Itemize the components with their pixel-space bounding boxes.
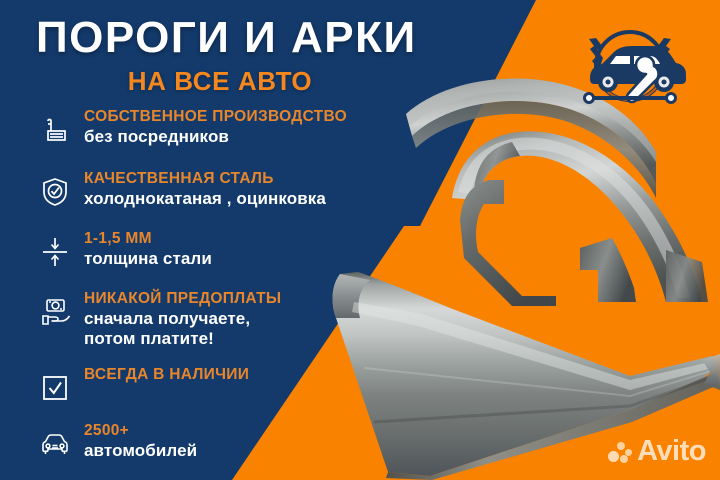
feature-subline: толщина стали <box>84 249 212 269</box>
feature-text: НИКАКОЙ ПРЕДОПЛАТЫ сначала получаете, по… <box>76 290 281 350</box>
feature-item-thickness: 1-1,5 ММ толщина стали <box>34 230 424 272</box>
feature-headline: 1-1,5 ММ <box>84 230 212 249</box>
feature-item-no-prepayment: НИКАКОЙ ПРЕДОПЛАТЫ сначала получаете, по… <box>34 290 424 350</box>
feature-item-in-stock: ВСЕГДА В НАЛИЧИИ <box>34 366 424 408</box>
car-wrench-emblem-logo <box>556 16 704 120</box>
avito-dots-icon <box>608 440 634 464</box>
feature-headline: КАЧЕСТВЕННАЯ СТАЛЬ <box>84 170 326 189</box>
feature-subline: без посредников <box>84 127 347 147</box>
checkbox-check-icon <box>34 368 76 408</box>
thickness-arrows-icon <box>34 232 76 272</box>
header-title-block: ПОРОГИ И АРКИ НА ВСЕ АВТО <box>36 14 456 97</box>
feature-subline: холоднокатаная , оцинковка <box>84 189 326 209</box>
feature-subline: сначала получаете, <box>84 309 281 329</box>
feature-item-production: СОБСТВЕННОЕ ПРОИЗВОДСТВО без посредников <box>34 108 424 150</box>
feature-item-steel-quality: КАЧЕСТВЕННАЯ СТАЛЬ холоднокатаная , оцин… <box>34 170 424 212</box>
feature-headline: НИКАКОЙ ПРЕДОПЛАТЫ <box>84 290 281 309</box>
feature-list: СОБСТВЕННОЕ ПРОИЗВОДСТВО без посредников… <box>34 108 424 477</box>
feature-item-car-count: 2500+ автомобилей <box>34 422 424 464</box>
feature-subline-2: потом платите! <box>84 329 281 349</box>
feature-headline: СОБСТВЕННОЕ ПРОИЗВОДСТВО <box>84 108 347 127</box>
factory-icon <box>34 110 76 150</box>
feature-text: СОБСТВЕННОЕ ПРОИЗВОДСТВО без посредников <box>76 108 347 147</box>
feature-headline: 2500+ <box>84 422 197 441</box>
hand-money-icon <box>34 292 76 332</box>
page-title: ПОРОГИ И АРКИ <box>36 14 456 62</box>
feature-text: 1-1,5 ММ толщина стали <box>76 230 212 269</box>
avito-watermark: Avito <box>608 437 706 466</box>
car-front-icon <box>34 424 76 464</box>
feature-text: 2500+ автомобилей <box>76 422 197 461</box>
avito-wordmark: Avito <box>637 437 706 466</box>
shield-check-icon <box>34 172 76 212</box>
feature-subline: автомобилей <box>84 441 197 461</box>
feature-text: КАЧЕСТВЕННАЯ СТАЛЬ холоднокатаная , оцин… <box>76 170 326 209</box>
page-subtitle: НА ВСЕ АВТО <box>36 66 456 97</box>
feature-text: ВСЕГДА В НАЛИЧИИ <box>76 366 249 385</box>
advertisement-banner: ПОРОГИ И АРКИ НА ВСЕ АВТО <box>0 0 720 480</box>
feature-headline: ВСЕГДА В НАЛИЧИИ <box>84 366 249 385</box>
